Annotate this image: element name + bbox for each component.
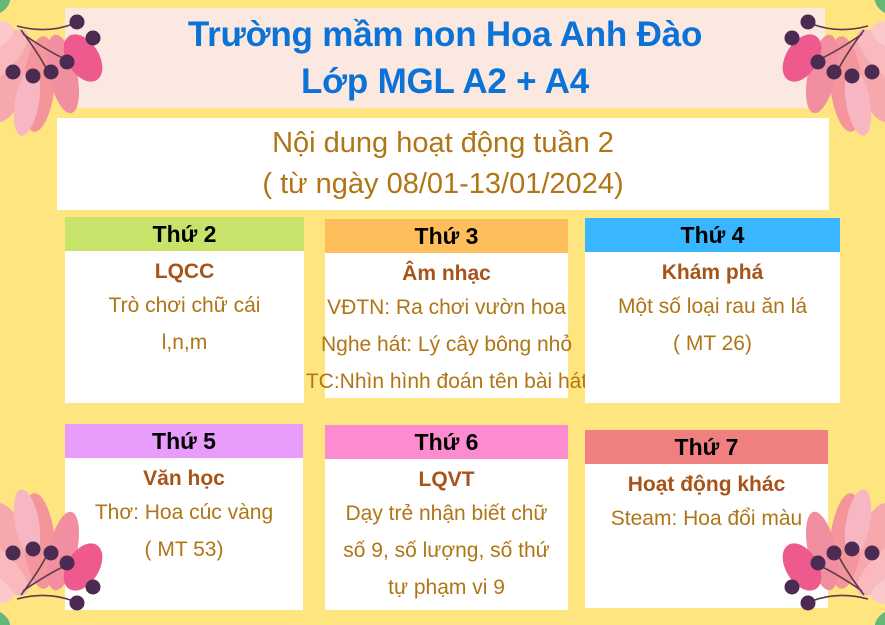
day-label: Thứ 7 xyxy=(675,436,739,459)
day-subject: Âm nhạc xyxy=(402,259,491,289)
day-detail-line: Trò chơi chữ cái xyxy=(109,287,261,324)
day-card-mon: Thứ 2LQCCTrò chơi chữ cáil,n,m xyxy=(65,217,304,403)
day-card-body-sat: Hoạt động khácSteam: Hoa đổi màu xyxy=(585,464,828,608)
day-card-tue: Thứ 3Âm nhạcVĐTN: Ra chơi vườn hoaNghe h… xyxy=(325,219,568,398)
day-card-fri: Thứ 6LQVTDạy trẻ nhận biết chữsố 9, số l… xyxy=(325,425,568,610)
day-label: Thứ 3 xyxy=(415,225,479,248)
day-detail-line: Một số loại rau ăn lá xyxy=(618,288,807,325)
day-card-header-wed: Thứ 4 xyxy=(585,218,840,252)
title-panel: Trường mầm non Hoa Anh Đào Lớp MGL A2 + … xyxy=(65,8,825,108)
day-label: Thứ 6 xyxy=(415,431,479,454)
day-detail-line: tự phạm vi 9 xyxy=(388,569,505,606)
day-card-body-fri: LQVTDạy trẻ nhận biết chữsố 9, số lượng,… xyxy=(325,459,568,610)
day-subject: LQVT xyxy=(419,465,475,495)
day-label: Thứ 4 xyxy=(681,224,745,247)
day-card-header-tue: Thứ 3 xyxy=(325,219,568,253)
day-card-header-thu: Thứ 5 xyxy=(65,424,303,458)
day-card-wed: Thứ 4Khám pháMột số loại rau ăn lá( MT 2… xyxy=(585,218,840,403)
day-detail-line: TC:Nhìn hình đoán tên bài hát xyxy=(306,363,587,400)
day-card-header-fri: Thứ 6 xyxy=(325,425,568,459)
day-subject: Văn học xyxy=(143,464,225,494)
day-detail-line: Dạy trẻ nhận biết chữ xyxy=(345,495,547,532)
day-detail-line: ( MT 53) xyxy=(145,531,224,568)
week-date-range: ( từ ngày 08/01-13/01/2024) xyxy=(262,164,623,205)
day-detail-line: Nghe hát: Lý cây bông nhỏ xyxy=(321,326,572,363)
day-detail-line: Thơ: Hoa cúc vàng xyxy=(95,494,273,531)
class-name: Lớp MGL A2 + A4 xyxy=(301,58,589,105)
school-name: Trường mầm non Hoa Anh Đào xyxy=(188,11,702,58)
day-detail-line: ( MT 26) xyxy=(673,325,752,362)
day-subject: LQCC xyxy=(155,257,215,287)
day-card-body-mon: LQCCTrò chơi chữ cáil,n,m xyxy=(65,251,304,403)
day-subject: Hoạt động khác xyxy=(628,470,786,500)
day-card-header-mon: Thứ 2 xyxy=(65,217,304,251)
day-subject: Khám phá xyxy=(662,258,764,288)
day-card-body-wed: Khám pháMột số loại rau ăn lá( MT 26) xyxy=(585,252,840,403)
week-title: Nội dung hoạt động tuần 2 xyxy=(272,123,614,164)
subtitle-panel: Nội dung hoạt động tuần 2 ( từ ngày 08/0… xyxy=(57,118,829,210)
day-detail-line: số 9, số lượng, số thứ xyxy=(343,532,549,569)
day-card-thu: Thứ 5Văn họcThơ: Hoa cúc vàng( MT 53) xyxy=(65,424,303,610)
day-detail-line: l,n,m xyxy=(162,324,208,361)
day-detail-line: VĐTN: Ra chơi vườn hoa xyxy=(327,289,566,326)
day-label: Thứ 2 xyxy=(153,223,217,246)
day-card-body-tue: Âm nhạcVĐTN: Ra chơi vườn hoaNghe hát: L… xyxy=(325,253,568,400)
day-card-body-thu: Văn họcThơ: Hoa cúc vàng( MT 53) xyxy=(65,458,303,610)
day-card-sat: Thứ 7Hoạt động khácSteam: Hoa đổi màu xyxy=(585,430,828,608)
day-detail-line: Steam: Hoa đổi màu xyxy=(611,500,802,537)
day-card-header-sat: Thứ 7 xyxy=(585,430,828,464)
day-label: Thứ 5 xyxy=(152,430,216,453)
